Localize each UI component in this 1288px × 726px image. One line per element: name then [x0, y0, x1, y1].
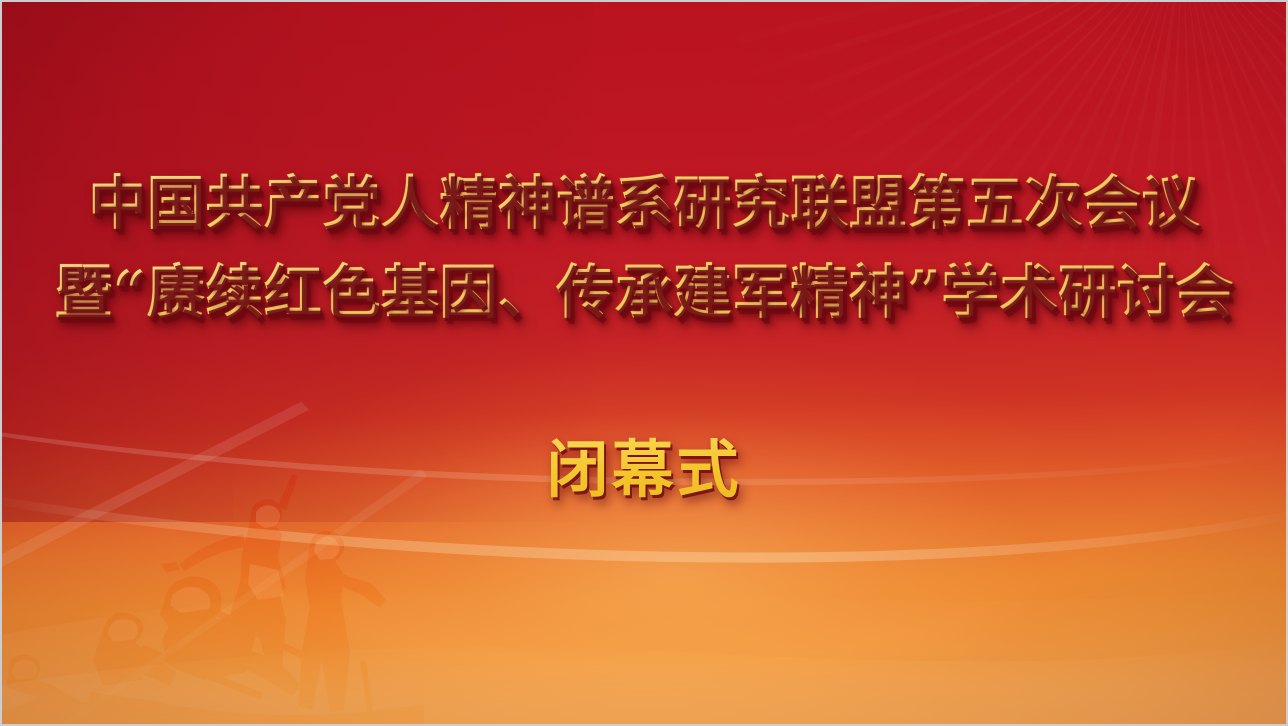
slide-content: 中国共产党人精神谱系研究联盟第五次会议 暨“赓续红色基因、传承建军精神”学术研讨…	[2, 2, 1286, 724]
presentation-slide: 中国共产党人精神谱系研究联盟第五次会议 暨“赓续红色基因、传承建军精神”学术研讨…	[0, 0, 1288, 726]
slide-subtitle-closing-ceremony: 闭幕式	[546, 419, 741, 509]
conference-title-line-1: 中国共产党人精神谱系研究联盟第五次会议	[88, 172, 1200, 235]
conference-title-line-2: 暨“赓续红色基因、传承建军精神”学术研讨会	[54, 261, 1233, 324]
conference-title-block: 中国共产党人精神谱系研究联盟第五次会议 暨“赓续红色基因、传承建军精神”学术研讨…	[2, 172, 1286, 323]
